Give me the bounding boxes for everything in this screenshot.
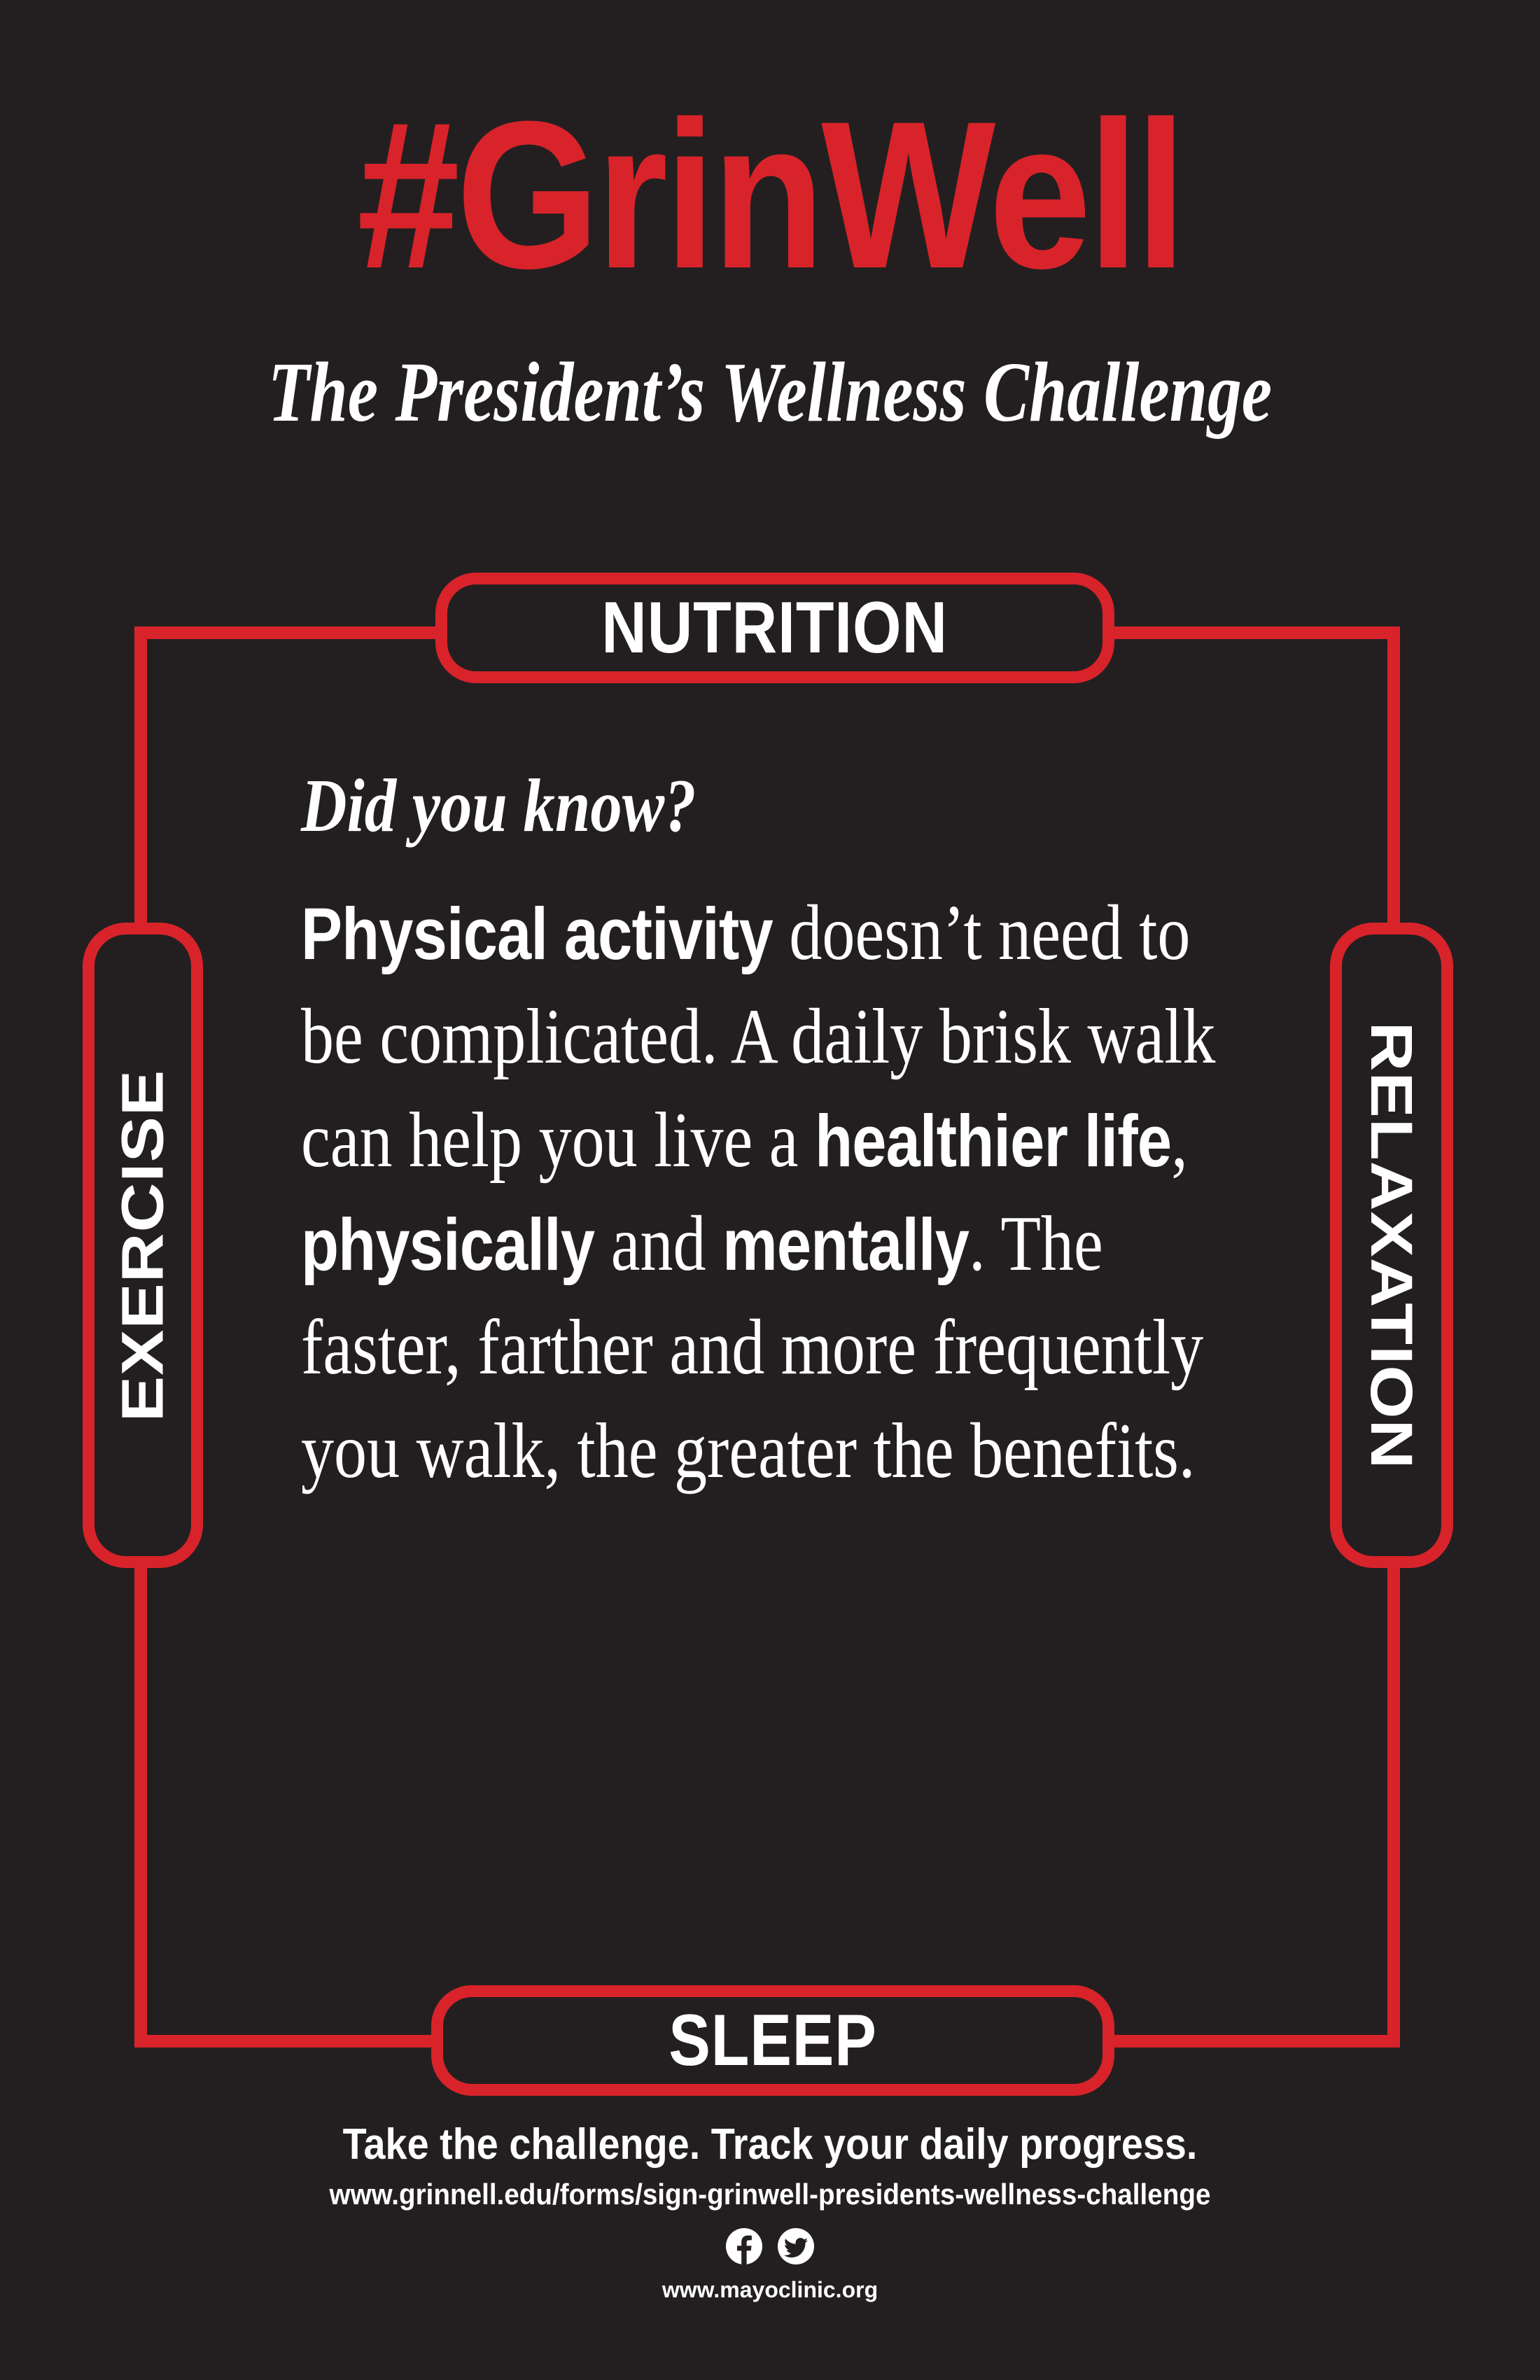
source-url-link[interactable]: www.mayoclinic.org (0, 2277, 1540, 2303)
signup-url-link[interactable]: www.grinnell.edu/forms/sign-grinwell-pre… (62, 2177, 1478, 2212)
facebook-icon (726, 2228, 762, 2264)
body-copy: Did you know? Physical activity doesn’t … (301, 766, 1232, 1503)
pillar-label-exercise: EXERCISE (108, 1069, 176, 1422)
pillar-label-relaxation: RELAXATION (1357, 1021, 1425, 1469)
footer-call-to-action: Take the challenge. Track your daily pro… (77, 2121, 1463, 2169)
social-links (0, 2228, 1540, 2264)
pillar-badge-exercise: EXERCISE (83, 923, 203, 1568)
did-you-know-heading: Did you know? (301, 766, 1083, 846)
page-title: #GrinWell (92, 90, 1448, 300)
pillar-badge-sleep: SLEEP (431, 1985, 1114, 2096)
footer: Take the challenge. Track your daily pro… (0, 2121, 1540, 2303)
facebook-link[interactable] (726, 2228, 762, 2264)
pillar-label-sleep: SLEEP (668, 1999, 877, 2082)
page-subtitle: The President’s Wellness Challenge (154, 350, 1386, 435)
twitter-icon (778, 2228, 814, 2264)
grinwell-poster: #GrinWell The President’s Wellness Chall… (0, 0, 1540, 2380)
pillar-badge-nutrition: NUTRITION (435, 573, 1114, 683)
twitter-link[interactable] (778, 2228, 814, 2264)
pillar-badge-relaxation: RELAXATION (1330, 923, 1453, 1568)
fact-paragraph: Physical activity doesn’t need to be com… (301, 882, 1230, 1503)
pillar-label-nutrition: NUTRITION (602, 587, 948, 670)
